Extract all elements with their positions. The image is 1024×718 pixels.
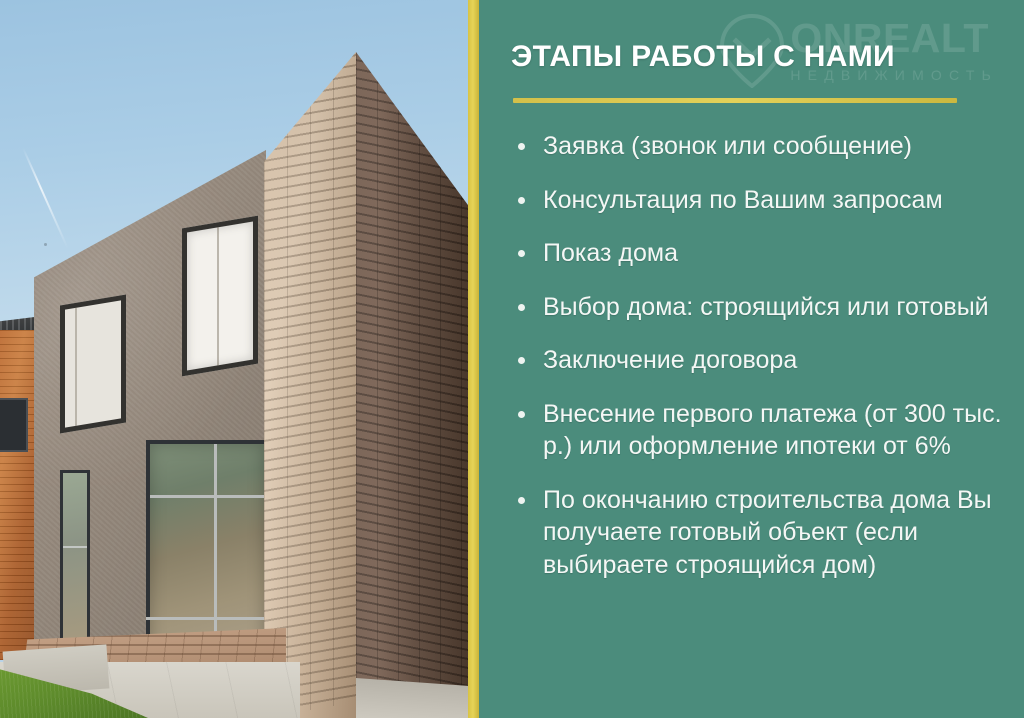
title-underline: [513, 98, 957, 103]
bullet-icon: [518, 197, 525, 204]
bullet-icon: [518, 497, 525, 504]
window-mullion: [146, 617, 268, 620]
list-item: Консультация по Вашим запросам: [509, 184, 1006, 217]
bullet-icon: [518, 143, 525, 150]
list-item-label: Выбор дома: строящийся или готовый: [543, 293, 989, 321]
panoramic-window: [146, 440, 268, 662]
page-title: ЭТАПЫ РАБОТЫ С НАМИ: [511, 40, 895, 74]
list-item-label: По окончанию строительства дома Вы получ…: [543, 486, 992, 579]
bullet-icon: [518, 357, 525, 364]
list-item-label: Показ дома: [543, 239, 678, 267]
gold-divider: [468, 0, 479, 718]
list-item-label: Заявка (звонок или сообщение): [543, 132, 912, 160]
list-item: Заключение договора: [509, 344, 1006, 377]
list-item: Показ дома: [509, 237, 1006, 270]
bullet-icon: [518, 304, 525, 311]
bullet-icon: [518, 250, 525, 257]
neighbour-window: [0, 398, 28, 452]
list-item: Внесение первого платежа (от 300 тыс. р.…: [509, 398, 1006, 463]
list-item-label: Заключение договора: [543, 346, 797, 374]
list-item: Заявка (звонок или сообщение): [509, 130, 1006, 163]
content-panel: ONREALT НЕДВИЖИМОСТЬ ЭТАПЫ РАБОТЫ С НАМИ…: [479, 0, 1024, 718]
brick-shading: [264, 52, 356, 718]
list-item-label: Внесение первого платежа (от 300 тыс. р.…: [543, 400, 1002, 461]
list-item: Выбор дома: строящийся или готовый: [509, 291, 1006, 324]
upper-window-right: [182, 216, 258, 377]
brick-corner-light: [264, 52, 356, 718]
list-item-label: Консультация по Вашим запросам: [543, 186, 943, 214]
list-item: По окончанию строительства дома Вы получ…: [509, 484, 1006, 582]
promo-slide: ONREALT НЕДВИЖИМОСТЬ ЭТАПЫ РАБОТЫ С НАМИ…: [0, 0, 1024, 718]
entry-door-glass: [60, 470, 90, 650]
upper-window-left: [60, 294, 126, 433]
sky-speck: [44, 243, 47, 246]
foundation-strip: [356, 678, 468, 718]
steps-list: Заявка (звонок или сообщение) Консультац…: [509, 130, 1006, 581]
bullet-icon: [518, 411, 525, 418]
house-photo: [0, 0, 468, 718]
